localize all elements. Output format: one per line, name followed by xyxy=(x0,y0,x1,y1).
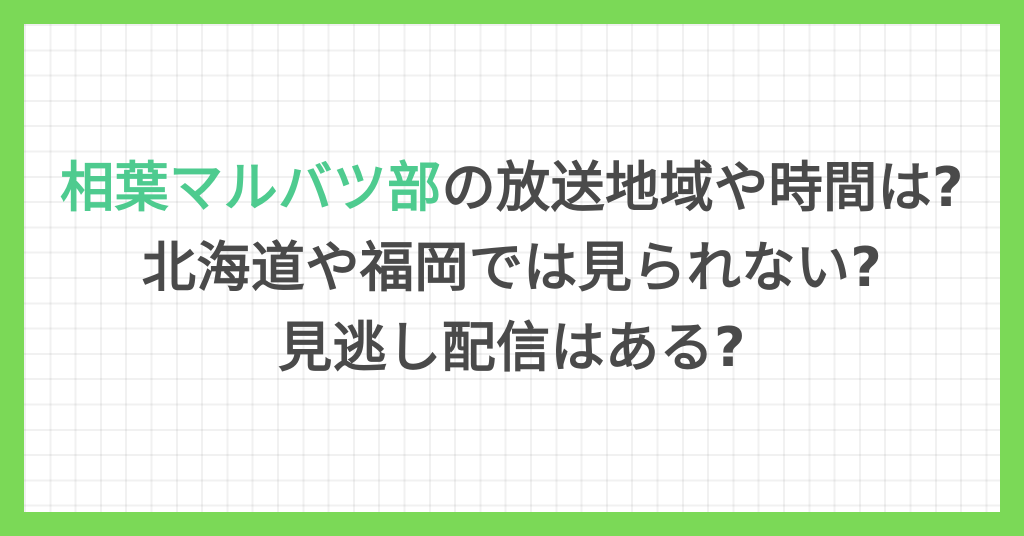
headline-line-1: 相葉マルバツ部の放送地域や時間は? xyxy=(60,148,964,228)
headline-line-2: 北海道や福岡では見られない? xyxy=(142,228,882,308)
headline-block: 相葉マルバツ部の放送地域や時間は? 北海道や福岡では見られない? 見逃し配信はあ… xyxy=(24,0,1000,536)
eyecatch-canvas: 相葉マルバツ部の放送地域や時間は? 北海道や福岡では見られない? 見逃し配信はあ… xyxy=(0,0,1024,536)
headline-line-3: 見逃し配信はある? xyxy=(278,308,746,388)
headline-accent-title: 相葉マルバツ部 xyxy=(60,156,442,219)
headline-line-1-rest: の放送地域や時間は? xyxy=(442,156,964,219)
